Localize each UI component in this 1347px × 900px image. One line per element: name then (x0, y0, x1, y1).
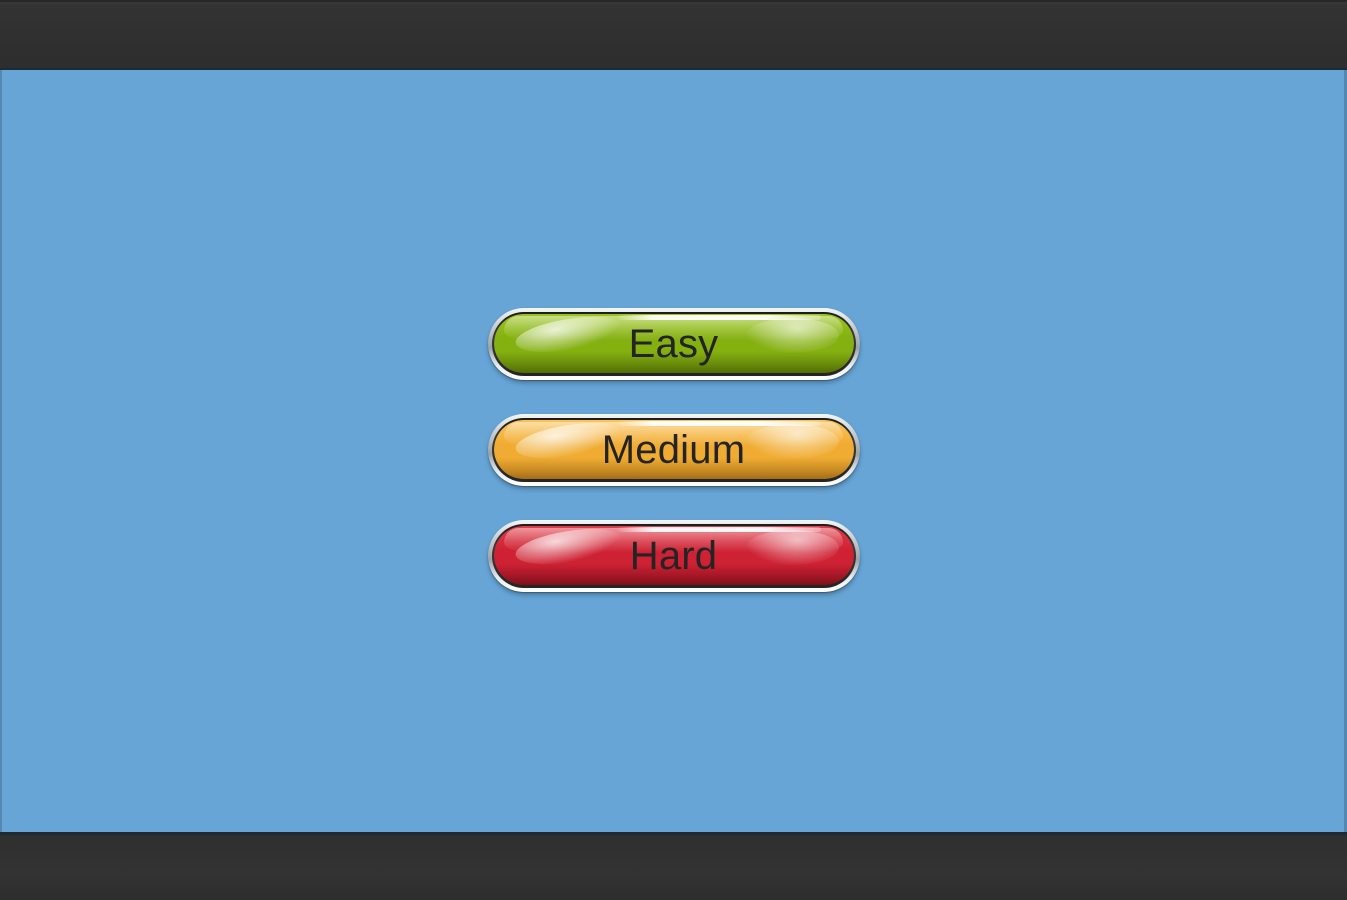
difficulty-button-label: Medium (488, 414, 860, 486)
difficulty-button-easy[interactable]: Easy (488, 308, 860, 380)
difficulty-button-label: Easy (488, 308, 860, 380)
top-chrome-bar (0, 0, 1347, 70)
bottom-chrome-bar (0, 832, 1347, 900)
difficulty-button-label: Hard (488, 520, 860, 592)
app-window: Easy Medium (0, 0, 1347, 900)
difficulty-button-hard[interactable]: Hard (488, 520, 860, 592)
game-stage: Easy Medium (0, 70, 1347, 832)
difficulty-menu: Easy Medium (488, 308, 860, 592)
difficulty-button-medium[interactable]: Medium (488, 414, 860, 486)
